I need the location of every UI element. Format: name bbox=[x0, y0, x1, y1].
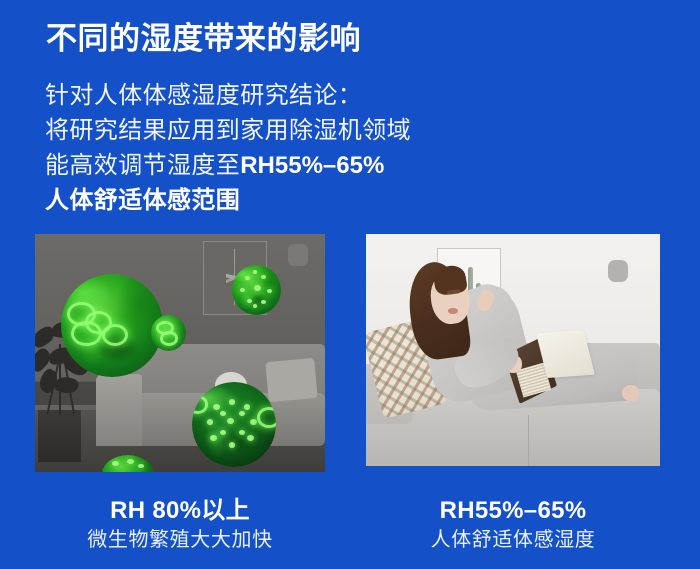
body-copy-line-4: 人体舒适体感范围 bbox=[45, 183, 605, 218]
photo-high-humidity-microbes bbox=[35, 234, 325, 472]
plant-pot bbox=[38, 410, 82, 462]
foot bbox=[622, 385, 640, 401]
wall-speaker-icon bbox=[288, 244, 308, 266]
woman-reading bbox=[366, 234, 660, 466]
microbe-sphere-large bbox=[61, 274, 163, 376]
microbe-sphere-edge bbox=[151, 315, 186, 351]
light-room-scene bbox=[366, 234, 660, 466]
caption-right-sub: 人体舒适体感湿度 bbox=[366, 526, 660, 554]
body-copy-line-1: 针对人体体感湿度研究结论： bbox=[45, 78, 605, 113]
body-copy-line-3: 能高效调节湿度至RH55%–65% bbox=[45, 148, 605, 183]
photo-comfortable-humidity-woman bbox=[366, 234, 660, 466]
lips bbox=[448, 308, 457, 314]
body-copy-line-2: 将研究结果应用到家用除湿机领域 bbox=[45, 113, 605, 148]
body-copy-line-3-prefix: 能高效调节湿度至 bbox=[45, 152, 240, 179]
caption-right-heading: RH55%–65% bbox=[366, 496, 660, 526]
dark-room-scene bbox=[35, 234, 325, 472]
microbe-sphere-spiky-top bbox=[232, 265, 281, 315]
caption-right: RH55%–65% 人体舒适体感湿度 bbox=[366, 496, 660, 554]
book-right-page bbox=[536, 330, 595, 378]
body-copy: 针对人体体感湿度研究结论： 将研究结果应用到家用除湿机领域 能高效调节湿度至RH… bbox=[45, 78, 605, 218]
photo-panels bbox=[0, 234, 700, 474]
caption-left-sub: 微生物繁殖大大加快 bbox=[35, 526, 325, 554]
microbe-sphere-spiky-bottom bbox=[192, 382, 276, 468]
caption-left-heading: RH 80%以上 bbox=[35, 496, 325, 526]
sofa-cushion bbox=[265, 358, 318, 403]
caption-left: RH 80%以上 微生物繁殖大大加快 bbox=[35, 496, 325, 554]
page-title: 不同的湿度带来的影响 bbox=[46, 20, 361, 58]
body-copy-line-3-emphasis: RH55%–65% bbox=[240, 152, 384, 179]
